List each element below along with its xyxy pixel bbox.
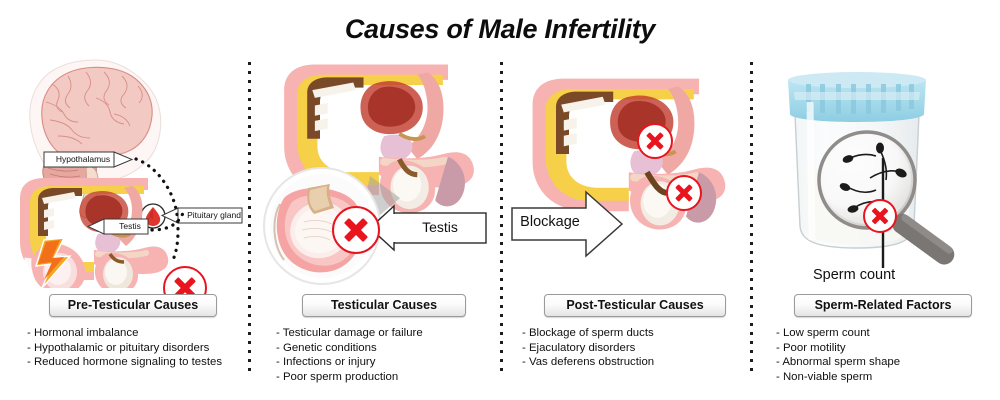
post-testicular-illustration: Blockage bbox=[500, 58, 750, 288]
bullets-sperm-related: - Low sperm count - Poor motility - Abno… bbox=[776, 326, 900, 384]
panel-pre-testicular: Hypothalamus Pituitary gland Testis Pre-… bbox=[0, 58, 250, 388]
bullet-item: - Hormonal imbalance bbox=[27, 326, 222, 341]
panel-label-testicular[interactable]: Testicular Causes bbox=[302, 294, 466, 317]
pre-testicular-illustration: Hypothalamus Pituitary gland Testis bbox=[0, 58, 250, 288]
sperm-related-illustration: Sperm count bbox=[750, 58, 1000, 288]
panel-testicular: Testis Testicular Causes - Testicular da… bbox=[250, 58, 500, 388]
infographic-root: Causes of Male Infertility bbox=[0, 0, 1000, 400]
bullet-item: - Abnormal sperm shape bbox=[776, 355, 900, 370]
bullets-post-testicular: - Blockage of sperm ducts - Ejaculatory … bbox=[522, 326, 654, 370]
male-pelvis-illustration bbox=[533, 79, 726, 230]
panel-label-post-testicular[interactable]: Post-Testicular Causes bbox=[544, 294, 726, 317]
sperm-count-label: Sperm count bbox=[813, 267, 895, 283]
panel-post-testicular: Blockage Post-Testicular Causes - Blocka… bbox=[500, 58, 750, 388]
bullet-item: - Low sperm count bbox=[776, 326, 900, 341]
testis-callout-text: Testis bbox=[396, 219, 484, 235]
bullets-testicular: - Testicular damage or failure - Genetic… bbox=[276, 326, 423, 384]
red-x-icon bbox=[863, 199, 897, 233]
panel-sperm-related: Sperm count Sperm-Related Factors - Low … bbox=[750, 58, 1000, 388]
red-x-icon bbox=[332, 206, 380, 254]
bullet-item: - Blockage of sperm ducts bbox=[522, 326, 654, 341]
bullets-pre-testicular: - Hormonal imbalance - Hypothalamic or p… bbox=[27, 326, 222, 370]
testicular-illustration: Testis bbox=[250, 58, 500, 288]
red-x-icon bbox=[637, 123, 673, 159]
panels-container: Hypothalamus Pituitary gland Testis Pre-… bbox=[0, 58, 1000, 388]
panel-label-sperm-related[interactable]: Sperm-Related Factors bbox=[794, 294, 972, 317]
post-testicular-svg bbox=[500, 58, 750, 288]
bullet-item: - Reduced hormone signaling to testes bbox=[27, 355, 222, 370]
bullet-item: - Poor sperm production bbox=[276, 370, 423, 385]
bullet-item: - Infections or injury bbox=[276, 355, 423, 370]
bullet-item: - Non-viable sperm bbox=[776, 370, 900, 385]
blockage-arrow-text: Blockage bbox=[514, 214, 586, 230]
bullet-item: - Testicular damage or failure bbox=[276, 326, 423, 341]
bullet-item: - Vas deferens obstruction bbox=[522, 355, 654, 370]
pituitary-gland-callout-text: Pituitary gland bbox=[179, 209, 249, 222]
bullet-item: - Ejaculatory disorders bbox=[522, 341, 654, 356]
bullet-item: - Hypothalamic or pituitary disorders bbox=[27, 341, 222, 356]
testicular-svg bbox=[250, 58, 500, 288]
bullet-item: - Poor motility bbox=[776, 341, 900, 356]
pre-testicular-svg bbox=[0, 58, 250, 288]
bullet-item: - Genetic conditions bbox=[276, 341, 423, 356]
panel-label-pre-testicular[interactable]: Pre-Testicular Causes bbox=[49, 294, 217, 317]
sperm-related-svg bbox=[750, 58, 1000, 288]
hypothalamus-callout-text: Hypothalamus bbox=[46, 153, 120, 166]
testis-callout-text: Testis bbox=[105, 220, 155, 233]
page-title: Causes of Male Infertility bbox=[0, 14, 1000, 45]
red-x-icon bbox=[666, 175, 702, 211]
